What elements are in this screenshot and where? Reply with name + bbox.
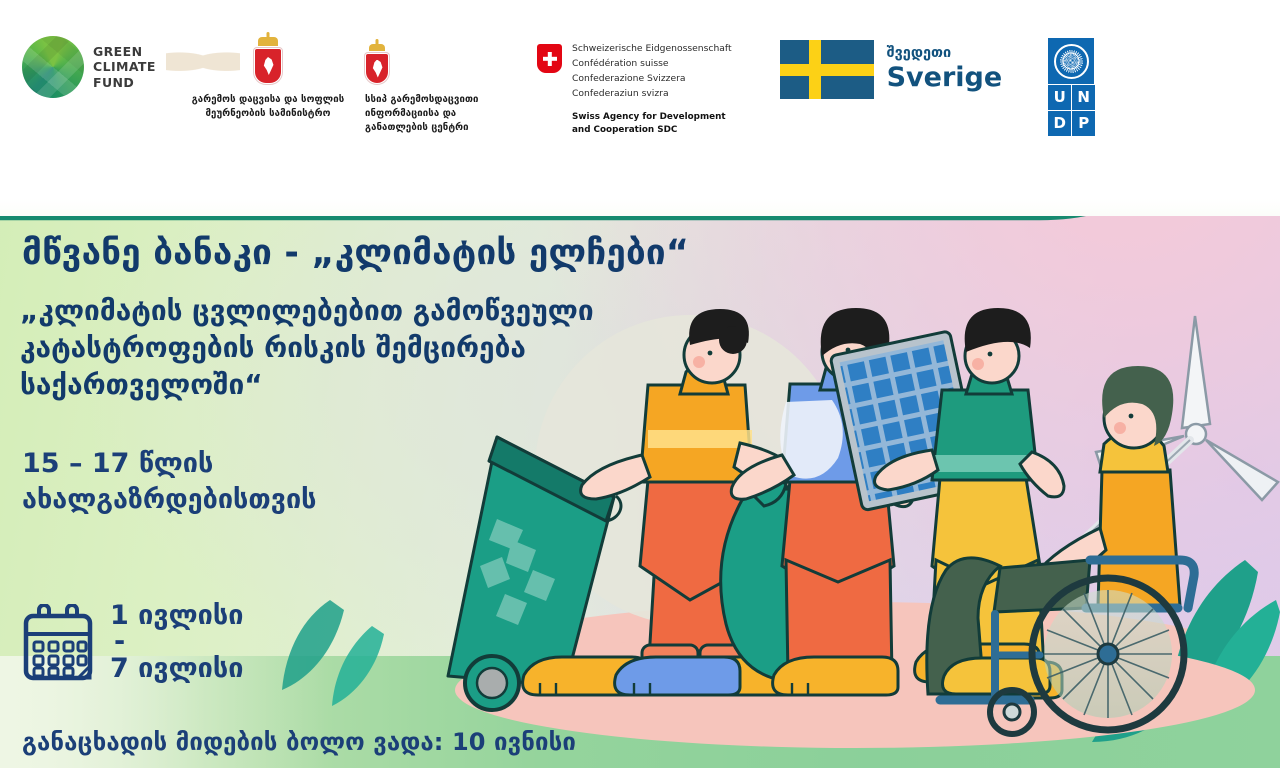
subtitle-line-2: კატასტროფების რისკის შემცირება xyxy=(20,329,700,366)
application-deadline: განაცხადის მიდების ბოლო ვადა: 10 ივნისი xyxy=(22,728,576,756)
swiss-agency-name: Swiss Agency for Development and Coopera… xyxy=(572,111,732,137)
gcf-wordmark: GREEN CLIMATE FUND xyxy=(93,44,156,90)
swiss-line-fr: Confédération suisse xyxy=(572,57,732,72)
page-title: მწვანე ბანაკი - „კლიმატის ელჩები“ xyxy=(22,234,922,273)
swiss-shield-icon xyxy=(537,44,562,73)
logo-environmental-info-center: სსიპ გარემოსდაცვითი ინფორმაციისა და განა… xyxy=(365,36,515,135)
logo-sweden-sverige: შვედეთი Sverige xyxy=(780,36,1003,99)
logo-ministry-environment: გარემოს დაცვისა და სოფლის მეურნეობის სამ… xyxy=(183,36,353,121)
crown-icon xyxy=(258,37,278,46)
age-range-line-1: 15 – 17 წლის xyxy=(22,446,582,482)
date-end: 7 ივლისი xyxy=(110,653,243,685)
gcf-line-3: FUND xyxy=(93,75,156,90)
swiss-agency-line-2: and Cooperation SDC xyxy=(572,124,732,137)
info-center-line-3: განათლების ცენტრი xyxy=(365,121,515,135)
calendar-icon xyxy=(22,604,94,682)
age-range-line-2: ახალგაზრდებისთვის xyxy=(22,482,582,518)
gcf-line-2: CLIMATE xyxy=(93,59,156,74)
undp-letter-u: U xyxy=(1048,85,1071,110)
ministry-line-1: გარემოს დაცვისა და სოფლის xyxy=(183,93,353,107)
gcf-globe-icon xyxy=(22,36,84,98)
age-range-text: 15 – 17 წლის ახალგაზრდებისთვის xyxy=(22,446,582,517)
georgia-coat-of-arms-icon xyxy=(183,36,353,84)
info-center-name: სსიპ გარემოსდაცვითი ინფორმაციისა და განა… xyxy=(365,93,515,135)
undp-letter-d: D xyxy=(1048,111,1071,136)
swiss-line-de: Schweizerische Eidgenossenschaft xyxy=(572,42,732,57)
crown-small-icon xyxy=(369,44,385,51)
partner-logo-row: GREEN CLIMATE FUND გარემოს დაცვისა და xyxy=(22,36,1095,141)
gcf-line-1: GREEN xyxy=(93,44,156,59)
date-start: 1 ივლისი xyxy=(110,600,243,632)
ministry-name: გარემოს დაცვისა და სოფლის მეურნეობის სამ… xyxy=(183,93,353,121)
undp-letters: U N D P xyxy=(1048,85,1095,136)
logo-undp: U N D P xyxy=(1048,36,1095,136)
swiss-line-rm: Confederaziun svizra xyxy=(572,87,732,102)
project-subtitle: „კლიმატის ცვლილებებით გამოწვეული კატასტრ… xyxy=(20,292,700,404)
info-center-line-1: სსიპ გარემოსდაცვითი xyxy=(365,93,515,107)
sverige-label-ka: შვედეთი xyxy=(887,46,1003,62)
undp-letter-p: P xyxy=(1072,111,1095,136)
subtitle-line-3: საქართველოში“ xyxy=(20,366,700,403)
undp-letter-n: N xyxy=(1072,85,1095,110)
logo-green-climate-fund: GREEN CLIMATE FUND xyxy=(22,36,167,98)
swiss-confederation-names: Schweizerische Eidgenossenschaft Confédé… xyxy=(572,42,732,102)
swiss-line-it: Confederazione Svizzera xyxy=(572,72,732,87)
event-dates-block: 1 ივლისი - 7 ივლისი xyxy=(22,600,243,685)
ministry-line-2: მეურნეობის სამინისტრო xyxy=(183,107,353,121)
logo-swiss-sdc: Schweizerische Eidgenossenschaft Confédé… xyxy=(537,36,732,137)
event-dates-text: 1 ივლისი - 7 ივლისი xyxy=(110,600,243,685)
date-separator: - xyxy=(114,635,243,649)
sweden-flag-icon xyxy=(780,40,874,99)
poster-canvas: GREEN CLIMATE FUND გარემოს დაცვისა და xyxy=(0,0,1280,768)
info-center-line-2: ინფორმაციისა და xyxy=(365,107,515,121)
un-emblem-icon xyxy=(1048,38,1094,84)
georgia-small-coat-of-arms-icon xyxy=(365,36,515,84)
subtitle-line-1: „კლიმატის ცვლილებებით გამოწვეული xyxy=(20,292,700,329)
sverige-label-en: Sverige xyxy=(887,64,1003,92)
logo-header: GREEN CLIMATE FUND გარემოს დაცვისა და xyxy=(0,0,1280,216)
sverige-wordmark: შვედეთი Sverige xyxy=(887,46,1003,92)
swiss-agency-line-1: Swiss Agency for Development xyxy=(572,111,732,124)
